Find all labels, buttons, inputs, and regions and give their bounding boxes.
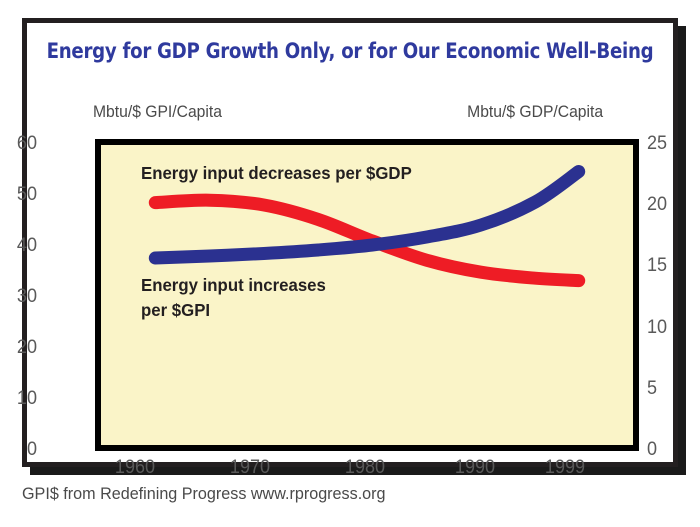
x-tick-1990: 1990 [437,457,513,479]
right-tick-5: 5 [647,378,700,400]
source-footer: GPI$ from Redefining Progress www.rprogr… [22,484,386,504]
series-line-gpi [155,172,578,259]
left-tick-0: 0 [0,439,37,461]
right-tick-25: 25 [647,133,700,155]
left-tick-30: 30 [0,286,37,308]
x-tick-1960: 1960 [97,457,173,479]
x-tick-1999: 1999 [527,457,603,479]
x-tick-1980: 1980 [327,457,403,479]
right-tick-15: 15 [647,255,700,277]
annotation-gdp: Energy input decreases per $GDP [141,163,412,184]
right-tick-20: 20 [647,194,700,216]
annotation-gpi-line1: Energy input increases [141,273,326,298]
left-axis-caption: Mbtu/$ GPI/Capita [93,103,222,122]
annotation-gpi: Energy input increases per $GPI [141,273,326,323]
annotation-gpi-line2: per $GPI [141,298,326,323]
x-tick-1970: 1970 [212,457,288,479]
right-tick-10: 10 [647,317,700,339]
left-tick-40: 40 [0,235,37,257]
left-tick-20: 20 [0,337,37,359]
page-title: Energy for GDP Growth Only, or for Our E… [46,39,653,64]
left-tick-60: 60 [0,133,37,155]
chart-panel: Energy for GDP Growth Only, or for Our E… [22,18,678,467]
right-axis-caption: Mbtu/$ GDP/Capita [467,103,603,122]
right-tick-0: 0 [647,439,700,461]
left-tick-50: 50 [0,184,37,206]
left-tick-10: 10 [0,388,37,410]
